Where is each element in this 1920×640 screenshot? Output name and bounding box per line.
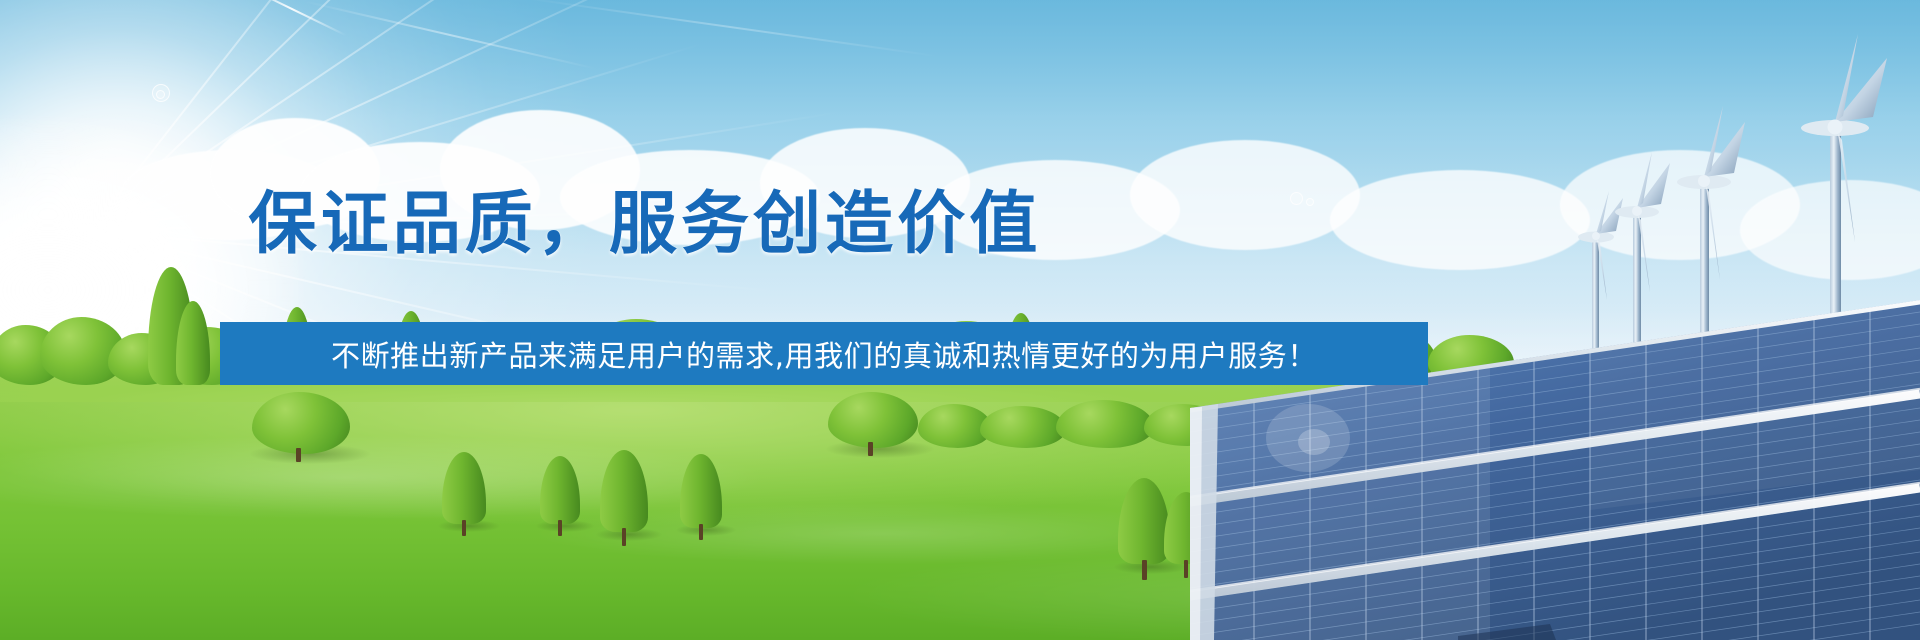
lens-flare-dot bbox=[156, 90, 165, 99]
subtitle-banner: 不断推出新产品来满足用户的需求,用我们的真诚和热情更好的为用户服务！ bbox=[220, 322, 1428, 385]
solar-panel-array bbox=[1190, 240, 1920, 640]
page-title: 保证品质，服务创造价值 bbox=[0, 168, 1290, 267]
hero-banner: 保证品质，服务创造价值 不断推出新产品来满足用户的需求,用我们的真诚和热情更好的… bbox=[0, 0, 1920, 640]
subtitle-text: 不断推出新产品来满足用户的需求,用我们的真诚和热情更好的为用户服务！ bbox=[331, 333, 1317, 375]
